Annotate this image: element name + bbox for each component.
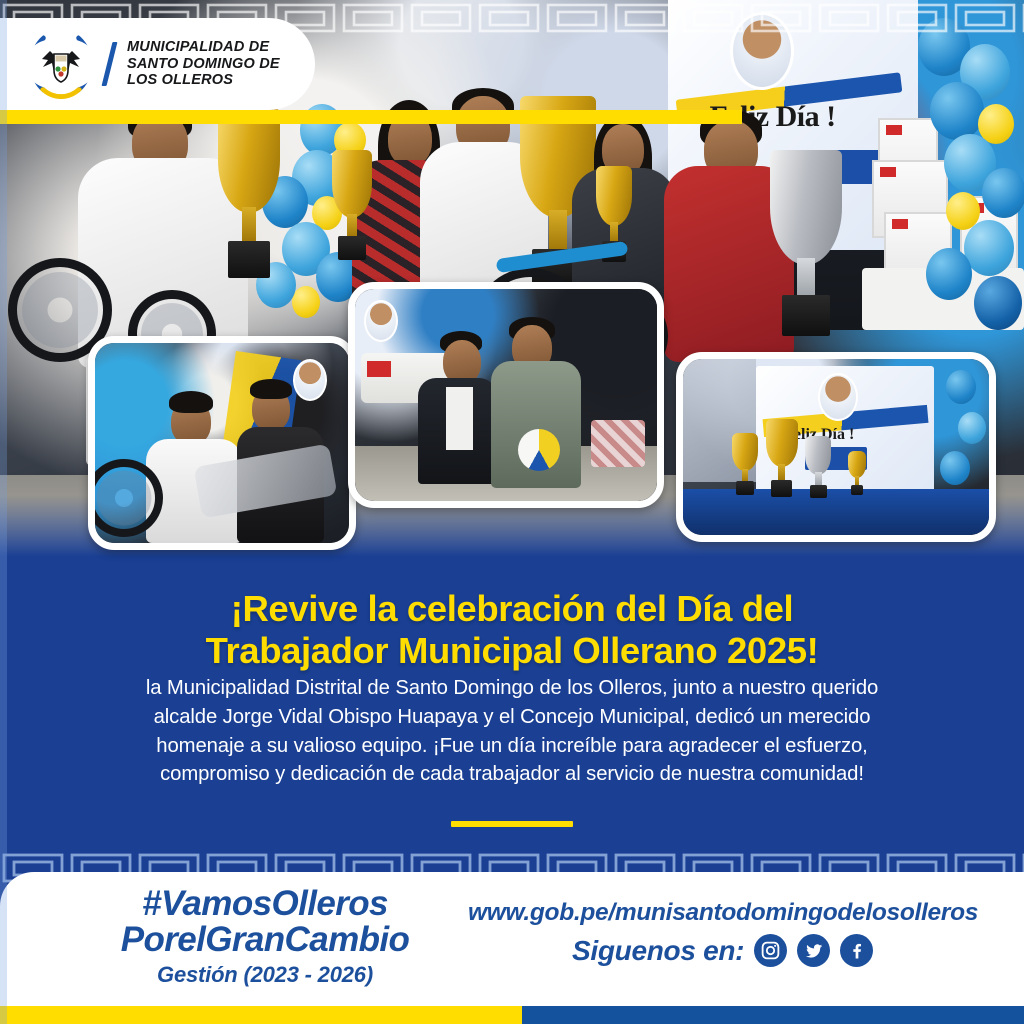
logo-divider-slash — [102, 42, 118, 86]
bottom-bar-blue — [522, 1006, 1024, 1024]
trophy-silver — [770, 150, 842, 336]
trophy — [218, 108, 280, 278]
campaign-hashtag: #VamosOlleros PorelGranCambio — [80, 886, 450, 958]
photo-bicycle-prize — [95, 343, 349, 543]
photo-trophy-table: ¡ Feliz Día ! — [683, 359, 989, 535]
facebook-icon[interactable] — [840, 934, 873, 967]
organization-name: MUNICIPALIDAD DE SANTO DOMINGO DE LOS OL… — [127, 39, 280, 89]
balloon — [930, 82, 984, 140]
page-title: ¡Revive la celebración del Día del Traba… — [72, 588, 952, 673]
municipality-logo-header: MUNICIPALIDAD DE SANTO DOMINGO DE LOS OL… — [0, 18, 315, 110]
balloon — [964, 220, 1014, 276]
left-edge-strip — [0, 0, 7, 1024]
collage-card-trophy-table: ¡ Feliz Día ! — [676, 352, 996, 542]
twitter-icon[interactable] — [797, 934, 830, 967]
gestion-period: Gestión (2023 - 2026) — [80, 962, 450, 988]
crest-icon — [30, 29, 92, 99]
footer: #VamosOlleros PorelGranCambio Gestión (2… — [0, 872, 1024, 1006]
photo-volleyball-winner — [355, 289, 657, 501]
social-links: Siguenos en: — [572, 934, 873, 967]
balloon — [292, 286, 320, 318]
collage-card-volleyball-winner — [348, 282, 664, 508]
poster-canvas: ¡Feliz Día ! — [0, 0, 1024, 1024]
main-content: ¡Revive la celebración del Día del Traba… — [0, 540, 1024, 870]
instagram-icon[interactable] — [754, 934, 787, 967]
follow-label: Siguenos en: — [572, 935, 744, 967]
balloon — [926, 248, 972, 300]
trophy-small — [332, 150, 372, 260]
bottom-bar-yellow — [0, 1006, 522, 1024]
yellow-accent-band — [0, 110, 742, 124]
crest-ring-icon — [30, 29, 92, 99]
website-url[interactable]: www.gob.pe/munisantodomingodelosolleros — [468, 899, 1008, 927]
bottom-color-bar — [0, 1006, 1024, 1024]
balloon — [974, 276, 1022, 330]
collage-card-bicycle-prize — [88, 336, 356, 550]
yellow-divider — [451, 821, 573, 827]
balloon — [982, 168, 1024, 218]
body-paragraph: la Municipalidad Distrital de Santo Domi… — [132, 674, 892, 789]
